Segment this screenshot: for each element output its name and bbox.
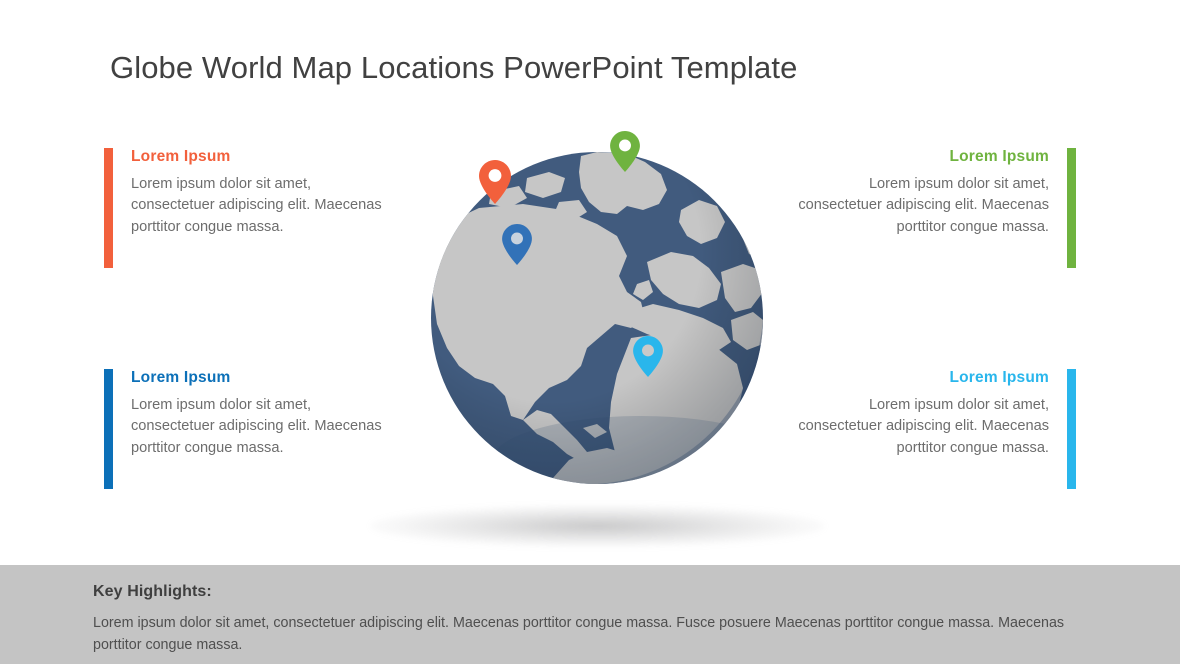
callout-body: Lorem Ipsum Lorem ipsum dolor sit amet, … (771, 369, 1067, 489)
callout-accent-bar (1067, 148, 1076, 268)
globe-drop-shadow (370, 505, 825, 547)
map-pin-green-icon[interactable] (610, 131, 640, 172)
callout-accent-bar (104, 148, 113, 268)
callout-heading: Lorem Ipsum (131, 148, 391, 165)
key-highlights-band: Key Highlights: Lorem ipsum dolor sit am… (0, 565, 1180, 664)
key-highlights-title: Key Highlights: (93, 583, 212, 601)
page-title: Globe World Map Locations PowerPoint Tem… (110, 50, 797, 86)
callout-text: Lorem ipsum dolor sit amet, consectetuer… (789, 174, 1049, 238)
map-pin-cyan-icon[interactable] (633, 336, 663, 377)
map-pin-blue-icon[interactable] (502, 224, 532, 265)
callout-heading: Lorem Ipsum (131, 369, 391, 386)
callout-text: Lorem ipsum dolor sit amet, consectetuer… (789, 395, 1049, 459)
callout-bottom-left[interactable]: Lorem Ipsum Lorem ipsum dolor sit amet, … (104, 369, 409, 489)
callout-body: Lorem Ipsum Lorem ipsum dolor sit amet, … (113, 148, 409, 268)
callout-text: Lorem ipsum dolor sit amet, consectetuer… (131, 395, 391, 459)
callout-accent-bar (104, 369, 113, 489)
callout-heading: Lorem Ipsum (789, 148, 1049, 165)
callout-bottom-right[interactable]: Lorem Ipsum Lorem ipsum dolor sit amet, … (771, 369, 1076, 489)
callout-body: Lorem Ipsum Lorem ipsum dolor sit amet, … (771, 148, 1067, 268)
callout-top-left[interactable]: Lorem Ipsum Lorem ipsum dolor sit amet, … (104, 148, 409, 268)
map-pin-orange-icon[interactable] (479, 160, 511, 204)
callout-top-right[interactable]: Lorem Ipsum Lorem ipsum dolor sit amet, … (771, 148, 1076, 268)
callout-body: Lorem Ipsum Lorem ipsum dolor sit amet, … (113, 369, 409, 489)
key-highlights-text: Lorem ipsum dolor sit amet, consectetuer… (93, 612, 1100, 656)
callout-accent-bar (1067, 369, 1076, 489)
callout-text: Lorem ipsum dolor sit amet, consectetuer… (131, 174, 391, 238)
slide-canvas: Globe World Map Locations PowerPoint Tem… (0, 0, 1180, 664)
callout-heading: Lorem Ipsum (789, 369, 1049, 386)
